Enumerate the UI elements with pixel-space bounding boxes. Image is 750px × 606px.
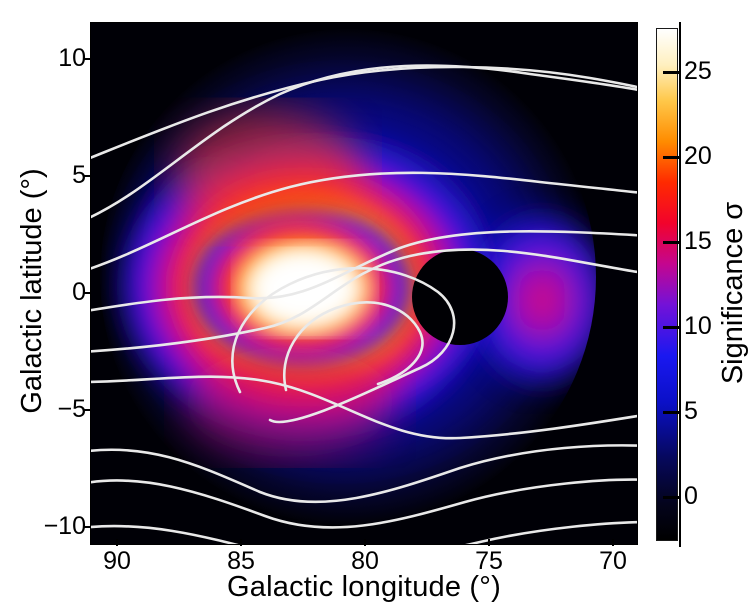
cbtick-mark-10 [663,326,679,329]
xtick-mark [488,539,490,546]
cbtick-label-5: 5 [684,399,698,424]
cbtick-label-25: 25 [684,59,712,84]
xtick-mark [116,539,118,546]
cbtick-label-15: 15 [684,229,712,254]
xtick-mark [364,539,366,546]
colorbar-axis-line [679,22,681,547]
cbtick-mark-5 [663,411,679,414]
colorbar-title: Significance σ [718,33,748,553]
xtick-mark [240,539,242,546]
colorbar-gradient [656,28,678,541]
cbtick-mark-20 [663,156,679,159]
sky-map-plot [90,22,638,545]
y-axis-title: Galactic latitude (°) [17,11,47,571]
contour-overlay [90,22,638,545]
xtick-label-70: 70 [573,549,653,574]
cbtick-label-0: 0 [684,484,698,509]
figure-root: 90 85 80 75 70 10 5 0 −5 −10 Galactic lo… [0,0,750,606]
cbtick-label-20: 20 [684,144,712,169]
cbtick-mark-0 [663,496,679,499]
cbtick-label-10: 10 [684,314,712,339]
xtick-label-90: 90 [77,549,157,574]
cbtick-mark-15 [663,241,679,244]
xtick-mark [612,539,614,546]
x-axis-title: Galactic longitude (°) [90,572,638,602]
cbtick-mark-25 [663,71,679,74]
